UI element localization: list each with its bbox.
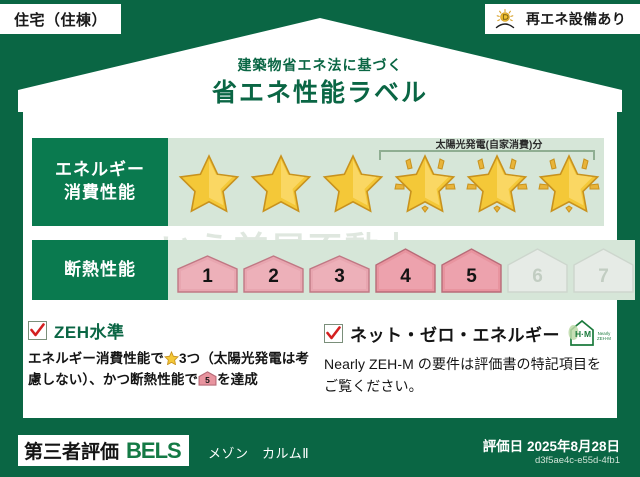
heading-subtitle: 建築物省エネ法に基づく — [0, 56, 640, 76]
energy-performance-stars-area: 太陽光発電(自家消費)分 — [168, 138, 604, 226]
criteria-panels: ZEH水準 エネルギー消費性能で3つ（太陽光発電は考慮しない）、かつ断熱性能で5… — [28, 318, 608, 397]
bels-badge: 第三者評価 BELS — [18, 435, 189, 466]
insulation-label: 断熱性能 — [64, 259, 136, 282]
star-icon — [164, 351, 179, 366]
sun-icon — [494, 8, 520, 30]
energy-performance-row: エネルギー 消費性能 太陽光発電(自家消費)分 — [32, 138, 604, 226]
insulation-grade-list: 1 2 3 — [168, 240, 635, 300]
solar-bracket — [379, 150, 595, 160]
house-grade-icon: 5 — [198, 372, 217, 387]
zeh-panel-header: ZEH水準 — [28, 318, 312, 343]
zeh-panel-body: エネルギー消費性能で3つ（太陽光発電は考慮しない）、かつ断熱性能で5を達成 — [28, 349, 312, 391]
grade-house-6: 6 — [506, 247, 569, 294]
evaluation-id: d3f5ae4c-e55d-4fb1 — [535, 455, 620, 466]
grade-house-7: 7 — [572, 247, 635, 294]
grade-house-5: 5 — [440, 247, 503, 294]
building-type-badge: 住宅（住棟） — [0, 4, 121, 34]
svg-text:H·M: H·M — [575, 329, 591, 339]
zeh-body-part1: エネルギー消費性能で — [28, 351, 164, 366]
energy-performance-label-box: エネルギー 消費性能 — [32, 138, 168, 226]
grade-house-1: 1 — [176, 254, 239, 294]
zeh-m-logo: H·M Nearly ZEH-M — [567, 318, 613, 348]
svg-text:5: 5 — [205, 375, 210, 385]
insulation-performance-label-box: 断熱性能 — [32, 240, 168, 300]
grade-house-4: 4 — [374, 247, 437, 294]
building-type-label: 住宅（住棟） — [14, 9, 107, 30]
nzeb-panel-title: ネット・ゼロ・エネルギー — [350, 321, 560, 346]
renewable-equipment-label: 再エネ設備あり — [526, 9, 626, 29]
nzeb-panel-header: ネット・ゼロ・エネルギー H·M Nearly ZEH-M — [324, 318, 608, 348]
insulation-performance-row: 断熱性能 1 2 — [32, 240, 604, 300]
zeh-check-icon — [28, 321, 47, 340]
zeh-body-part3: を達成 — [217, 372, 258, 387]
left-green-rule — [18, 112, 23, 418]
zeh-panel: ZEH水準 エネルギー消費性能で3つ（太陽光発電は考慮しない）、かつ断熱性能で5… — [28, 318, 312, 397]
renewable-equipment-badge: 再エネ設備あり — [485, 4, 640, 34]
net-zero-energy-panel: ネット・ゼロ・エネルギー H·M Nearly ZEH-M Nearly ZEH… — [324, 318, 608, 397]
grade-house-3: 3 — [308, 254, 371, 294]
page-title: 省エネ性能ラベル — [0, 78, 640, 109]
star-2 — [246, 138, 316, 226]
bels-jp-label: 第三者評価 — [24, 437, 119, 464]
evaluation-date: 評価日 2025年8月28日 — [483, 435, 620, 455]
star-1 — [174, 138, 244, 226]
building-name: メゾン カルムⅡ — [208, 443, 309, 462]
solar-bracket-label: 太陽光発電(自家消費)分 — [366, 136, 612, 151]
insulation-grades-area: 1 2 3 — [168, 240, 635, 300]
svg-text:ZEH-M: ZEH-M — [597, 336, 611, 341]
label-heading: 建築物省エネ法に基づく 省エネ性能ラベル — [0, 56, 640, 109]
grade-house-2: 2 — [242, 254, 305, 294]
energy-label-line2: 消費性能 — [64, 182, 136, 205]
bels-logo-text: BELS — [126, 438, 181, 464]
energy-label-line1: エネルギー — [55, 159, 145, 182]
energy-performance-label: 住宅（住棟） 再エネ設備あり 建築物省エネ法に基づく — [0, 0, 640, 477]
star-3 — [318, 138, 388, 226]
nzeb-check-icon — [324, 324, 343, 343]
label-footer: 第三者評価 BELS メゾン カルムⅡ 評価日 2025年8月28日 d3f5a… — [0, 429, 640, 477]
nzeb-panel-body: Nearly ZEH-M の要件は評価書の特記項目をご覧ください。 — [324, 354, 608, 397]
zeh-panel-title: ZEH水準 — [54, 318, 125, 343]
